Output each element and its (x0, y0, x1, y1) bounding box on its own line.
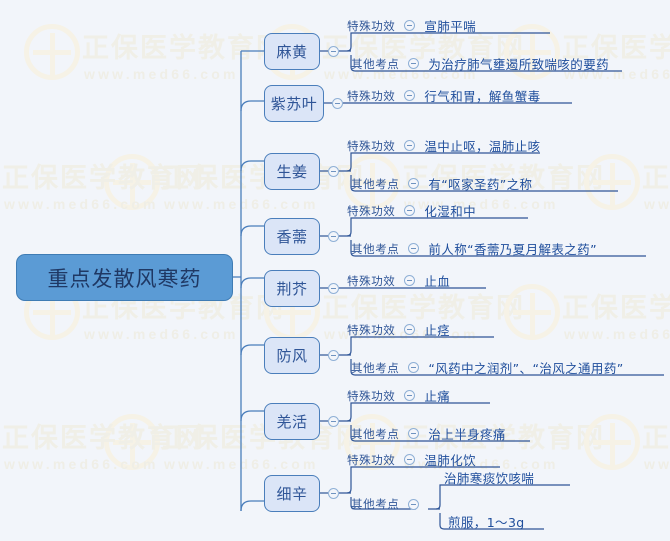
leaf-qianghuo-other[interactable]: 其他考点 治上半身疼痛 (351, 424, 506, 443)
subleaf-xixin-other-2[interactable]: 煎服，1～3g (448, 512, 525, 531)
root-node-label: 重点发散风寒药 (48, 263, 202, 293)
leaf-label: 其他考点 (351, 176, 399, 192)
root-node[interactable]: 重点发散风寒药 (16, 254, 233, 301)
minus-circle-icon[interactable] (408, 362, 419, 373)
leaf-value: 温肺化饮 (424, 450, 476, 469)
node-label: 细辛 (276, 483, 307, 504)
leaf-qianghuo-special[interactable]: 特殊功效 止痛 (347, 386, 450, 405)
leaf-value: 宣肺平喘 (424, 16, 476, 35)
node-shengjiang[interactable]: 生姜 (264, 153, 320, 190)
minus-circle-icon[interactable] (404, 90, 415, 101)
mindmap-canvas: 正保医学教育网 www.med66.com 正保医学教育网 www.med66.… (0, 0, 670, 541)
leaf-label: 特殊功效 (347, 273, 395, 289)
leaf-mahuang-other[interactable]: 其他考点 为治疗肺气壅遏所致喘咳的要药 (351, 54, 609, 73)
leaf-value: 为治疗肺气壅遏所致喘咳的要药 (428, 54, 609, 73)
collapse-toggle-xiangru[interactable] (328, 231, 339, 242)
leaf-xiangru-special[interactable]: 特殊功效 化湿和中 (347, 201, 476, 220)
leaf-value: 止痉 (424, 320, 450, 339)
leaf-value: 化湿和中 (424, 201, 476, 220)
subleaf-xixin-other-1[interactable]: 治肺寒痰饮咳喘 (444, 468, 534, 487)
collapse-toggle-fangfeng[interactable] (328, 350, 339, 361)
leaf-xiangru-other[interactable]: 其他考点 前人称“香薷乃夏月解表之药” (351, 239, 597, 258)
minus-circle-icon[interactable] (404, 390, 415, 401)
minus-circle-icon[interactable] (404, 275, 415, 286)
collapse-toggle-mahuang[interactable] (328, 46, 339, 57)
collapse-toggle-qianghuo[interactable] (328, 416, 339, 427)
leaf-shengjiang-other[interactable]: 其他考点 有“呕家圣药”之称 (351, 174, 532, 193)
leaf-value: “风药中之润剂”、“治风之通用药” (428, 358, 623, 377)
leaf-fangfeng-other[interactable]: 其他考点 “风药中之润剂”、“治风之通用药” (351, 358, 624, 377)
leaf-label: 其他考点 (351, 241, 399, 257)
node-label: 防风 (276, 345, 307, 366)
leaf-value: 前人称“香薷乃夏月解表之药” (428, 239, 597, 258)
leaf-label: 特殊功效 (347, 452, 395, 468)
minus-circle-icon[interactable] (408, 428, 419, 439)
node-label: 麻黄 (276, 41, 307, 62)
minus-circle-icon[interactable] (408, 499, 419, 510)
node-label: 荆芥 (276, 278, 307, 299)
leaf-label: 特殊功效 (347, 388, 395, 404)
minus-circle-icon[interactable] (408, 243, 419, 254)
collapse-toggle-xixin[interactable] (328, 488, 339, 499)
leaf-mahuang-special[interactable]: 特殊功效 宣肺平喘 (347, 16, 476, 35)
leaf-label: 其他考点 (351, 56, 399, 72)
leaf-value: 行气和胃，解鱼蟹毒 (424, 86, 540, 105)
leaf-label: 特殊功效 (347, 18, 395, 34)
leaf-value: 止血 (424, 271, 450, 290)
node-mahuang[interactable]: 麻黄 (264, 33, 320, 70)
leaf-value: 治上半身疼痛 (428, 424, 505, 443)
leaf-xixin-special[interactable]: 特殊功效 温肺化饮 (347, 450, 476, 469)
minus-circle-icon[interactable] (408, 178, 419, 189)
leaf-label: 特殊功效 (347, 88, 395, 104)
leaf-label: 特殊功效 (347, 322, 395, 338)
leaf-label: 其他考点 (351, 360, 399, 376)
leaf-label: 其他考点 (351, 426, 399, 442)
leaf-label: 特殊功效 (347, 203, 395, 219)
node-label: 香薷 (276, 226, 307, 247)
collapse-toggle-jingjie[interactable] (328, 283, 339, 294)
node-label: 羌活 (276, 411, 307, 432)
leaf-value: 温中止呕，温肺止咳 (424, 136, 540, 155)
minus-circle-icon[interactable] (408, 58, 419, 69)
leaf-shengjiang-special[interactable]: 特殊功效 温中止呕，温肺止咳 (347, 136, 541, 155)
node-jingjie[interactable]: 荆芥 (264, 270, 320, 307)
node-zisuye[interactable]: 紫苏叶 (264, 85, 324, 122)
leaf-zisuye-special[interactable]: 特殊功效 行气和胃，解鱼蟹毒 (347, 86, 541, 105)
node-fangfeng[interactable]: 防风 (264, 337, 320, 374)
node-xiangru[interactable]: 香薷 (264, 218, 320, 255)
minus-circle-icon[interactable] (404, 324, 415, 335)
minus-circle-icon[interactable] (404, 205, 415, 216)
leaf-value: 止痛 (424, 386, 450, 405)
node-qianghuo[interactable]: 羌活 (264, 403, 320, 440)
minus-circle-icon[interactable] (404, 454, 415, 465)
collapse-toggle-zisuye[interactable] (332, 98, 343, 109)
leaf-xixin-other[interactable]: 其他考点 (351, 496, 428, 512)
leaf-fangfeng-special[interactable]: 特殊功效 止痉 (347, 320, 450, 339)
node-xixin[interactable]: 细辛 (264, 475, 320, 512)
leaf-jingjie-special[interactable]: 特殊功效 止血 (347, 271, 450, 290)
leaf-label: 特殊功效 (347, 138, 395, 154)
minus-circle-icon[interactable] (404, 20, 415, 31)
leaf-value: 有“呕家圣药”之称 (428, 174, 532, 193)
minus-circle-icon[interactable] (404, 140, 415, 151)
leaf-label: 其他考点 (351, 496, 399, 512)
node-label: 紫苏叶 (271, 93, 318, 114)
node-label: 生姜 (276, 161, 307, 182)
collapse-toggle-shengjiang[interactable] (328, 166, 339, 177)
